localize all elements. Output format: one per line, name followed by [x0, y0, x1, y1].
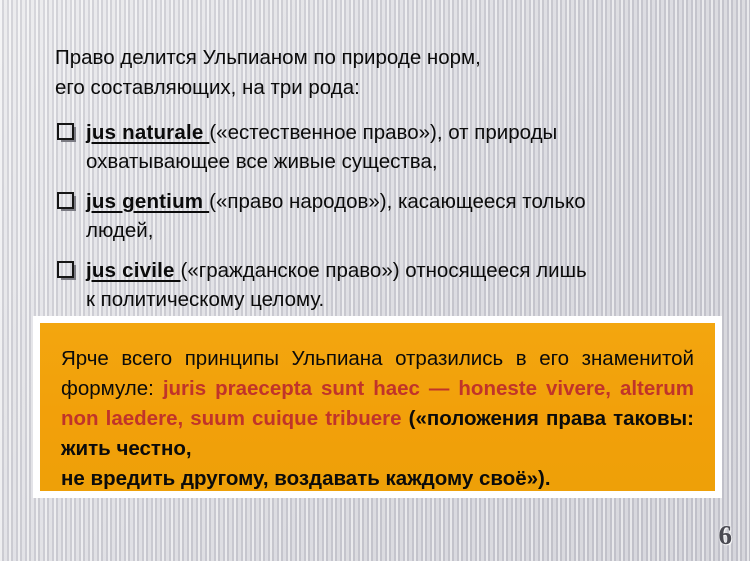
hollow-square-bullet-icon: [57, 123, 74, 140]
list-item-jus-naturale: jus naturale («естественное право»), от …: [55, 118, 700, 176]
slide-content: Право делится Ульпианом по природе норм,…: [0, 0, 750, 561]
term-jus-gentium: jus gentium: [86, 190, 209, 213]
definition-jus-gentium-tail: людей,: [86, 216, 700, 245]
definition-jus-naturale-tail: охватывающее все живые существа,: [86, 147, 700, 176]
highlight-callout-box: Ярче всего принципы Ульпиана отразились …: [33, 316, 722, 498]
definition-jus-gentium: («право народов»), касающееся только: [209, 190, 586, 213]
list-item-jus-gentium: jus gentium («право народов»), касающеес…: [55, 187, 700, 245]
hollow-square-bullet-icon: [57, 192, 74, 209]
gloss-close: не вредить другому, воздавать каждому св…: [61, 464, 694, 494]
highlight-paragraph: Ярче всего принципы Ульпиана отразились …: [61, 344, 694, 494]
intro-line-1: Право делится Ульпианом по природе норм,: [55, 46, 481, 69]
term-jus-naturale: jus naturale: [86, 121, 209, 144]
term-jus-civile: jus civile: [86, 259, 181, 282]
intro-paragraph: Право делится Ульпианом по природе норм,…: [55, 43, 700, 103]
bullet-list: jus naturale («естественное право»), от …: [55, 118, 700, 325]
page-number: 6: [719, 520, 733, 551]
highlight-callout-inner: Ярче всего принципы Ульпиана отразились …: [40, 323, 715, 491]
definition-jus-civile: («гражданское право») относящееся лишь: [181, 259, 587, 282]
intro-line-2: его составляющих, на три рода:: [55, 73, 700, 103]
list-item-jus-civile: jus civile («гражданское право») относящ…: [55, 256, 700, 314]
definition-jus-civile-tail: к политическому целому.: [86, 285, 700, 314]
definition-jus-naturale: («естественное право»), от природы: [209, 121, 557, 144]
hollow-square-bullet-icon: [57, 261, 74, 278]
